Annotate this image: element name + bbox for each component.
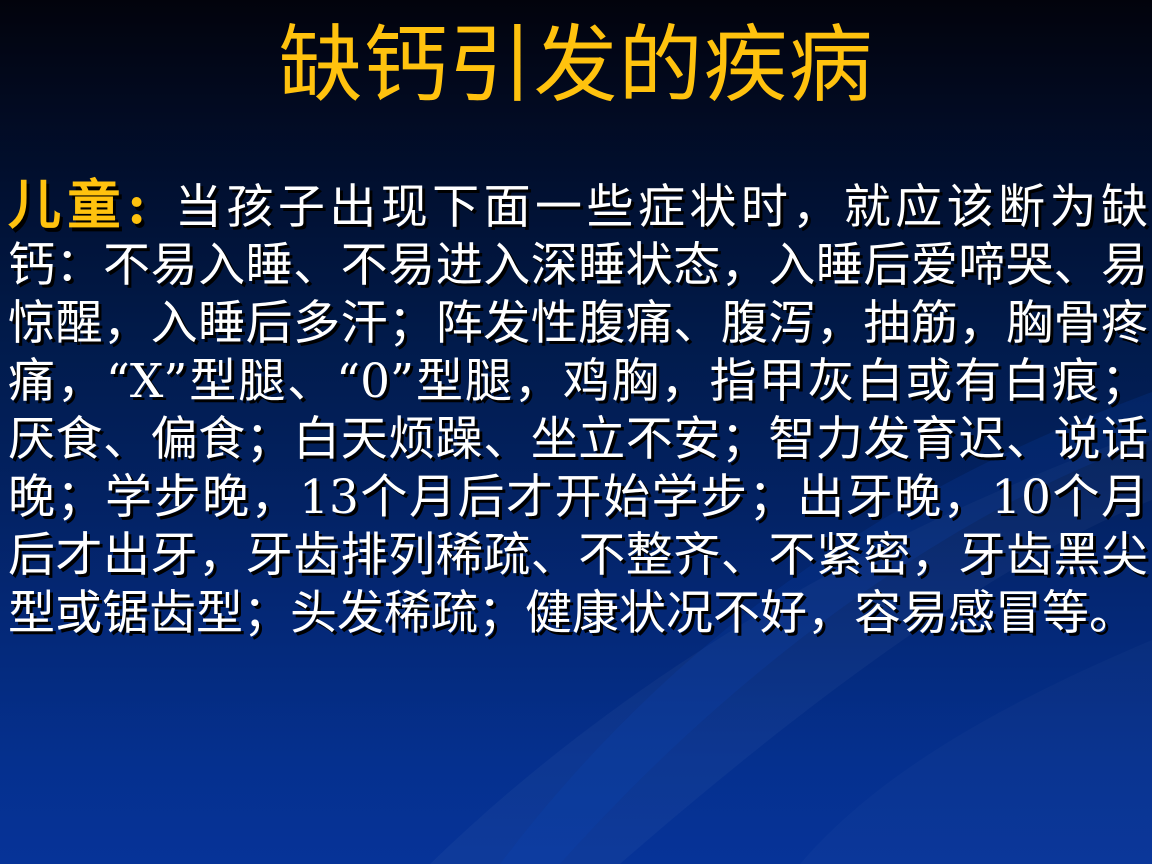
body-lead-label: 儿童: [8, 174, 148, 236]
slide-body-text: 儿童:当孩子出现下面一些症状时，就应该断为缺钙：不易入睡、不易进入深睡状态，入睡… [8, 176, 1148, 643]
slide-title: 缺钙引发的疾病 [0, 18, 1152, 112]
body-paragraph: 当孩子出现下面一些症状时，就应该断为缺钙：不易入睡、不易进入深睡状态，入睡后爱啼… [8, 180, 1148, 641]
presentation-slide: 缺钙引发的疾病 儿童:当孩子出现下面一些症状时，就应该断为缺钙：不易入睡、不易进… [0, 0, 1152, 864]
